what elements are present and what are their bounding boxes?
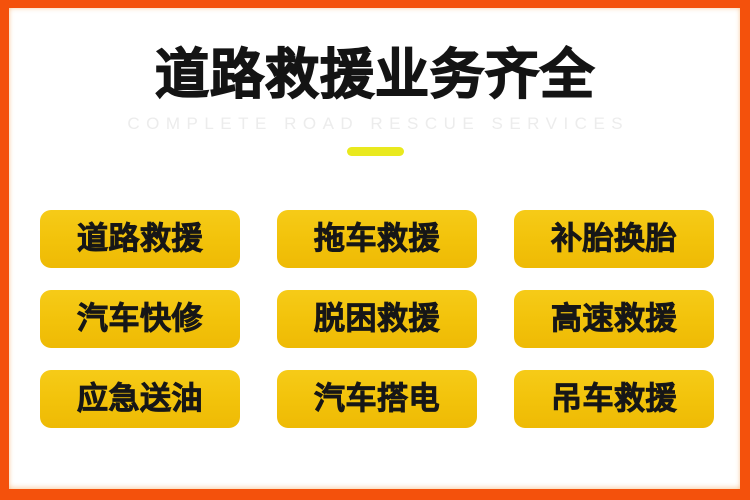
service-button-grid: 道路救援 拖车救援 补胎换胎 汽车快修 脱困救援 高速救援 应急送油 汽车搭电 … (40, 210, 714, 428)
page-title: 道路救援业务齐全 (0, 44, 750, 106)
service-button-quick-car-repair[interactable]: 汽车快修 (40, 290, 240, 348)
page-subtitle: COMPLETE ROAD RESCUE SERVICES (0, 114, 750, 134)
service-button-label: 高速救援 (551, 302, 677, 336)
service-button-emergency-fuel-delivery[interactable]: 应急送油 (40, 370, 240, 428)
service-button-label: 汽车快修 (77, 302, 203, 336)
frame-border-top (0, 0, 750, 8)
frame-border-bottom (0, 489, 750, 500)
service-button-highway-rescue[interactable]: 高速救援 (514, 290, 714, 348)
road-rescue-poster: 道路救援业务齐全 COMPLETE ROAD RESCUE SERVICES 道… (0, 0, 750, 500)
service-button-label: 拖车救援 (314, 222, 440, 256)
title-accent-bar (347, 147, 404, 156)
service-button-jump-start[interactable]: 汽车搭电 (277, 370, 477, 428)
service-button-extrication-rescue[interactable]: 脱困救援 (277, 290, 477, 348)
service-button-crane-rescue[interactable]: 吊车救援 (514, 370, 714, 428)
service-button-label: 应急送油 (77, 382, 203, 416)
service-button-label: 道路救援 (77, 222, 203, 256)
service-button-tow-rescue[interactable]: 拖车救援 (277, 210, 477, 268)
service-button-label: 脱困救援 (314, 302, 440, 336)
service-button-label: 吊车救援 (551, 382, 677, 416)
service-button-road-rescue[interactable]: 道路救援 (40, 210, 240, 268)
service-button-label: 补胎换胎 (551, 222, 677, 256)
service-button-label: 汽车搭电 (314, 382, 440, 416)
service-button-tire-repair-replace[interactable]: 补胎换胎 (514, 210, 714, 268)
